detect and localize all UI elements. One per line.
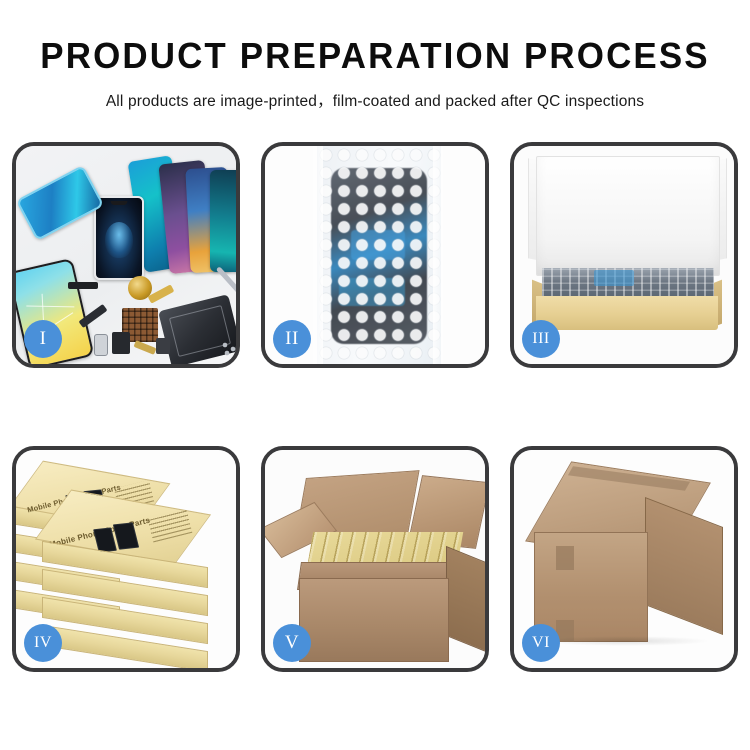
page-title: PRODUCT PREPARATION PROCESS bbox=[11, 36, 739, 76]
spare-part-module-icon bbox=[112, 332, 130, 354]
spare-part-screws-icon bbox=[222, 342, 236, 356]
bubble-highlights-icon bbox=[317, 146, 441, 364]
spare-part-battery-icon bbox=[156, 338, 170, 354]
step-badge-1: I bbox=[24, 320, 62, 358]
process-panel-6-sealed-carton[interactable]: VI bbox=[510, 446, 738, 672]
carton-body-front-icon bbox=[299, 578, 449, 662]
step-badge-6: VI bbox=[522, 624, 560, 662]
step-badge-2: II bbox=[273, 320, 311, 358]
wrap-edge-right-icon bbox=[433, 146, 447, 364]
step-badge-5: V bbox=[273, 624, 311, 662]
spare-part-camera-icon bbox=[94, 334, 108, 356]
carton-tape-patch-icon bbox=[556, 546, 574, 570]
process-panel-4-stacked-boxes[interactable]: Mobile Phone Spare Parts Mobile Phone Sp… bbox=[12, 446, 240, 672]
crack-line-icon bbox=[26, 306, 74, 308]
carton-shadow-icon bbox=[540, 636, 710, 646]
tray-front-panel-icon bbox=[536, 296, 718, 330]
wallpaper-glow-icon bbox=[105, 222, 133, 258]
page-header: PRODUCT PREPARATION PROCESS All products… bbox=[0, 0, 750, 111]
step-badge-3: III bbox=[522, 320, 560, 358]
wrapped-items-row-icon bbox=[542, 268, 714, 298]
process-panel-grid: I II III bbox=[12, 142, 738, 672]
spare-part-bar-icon bbox=[68, 282, 98, 289]
process-panel-1-phone-parts[interactable]: I bbox=[12, 142, 240, 368]
carton-body-side-icon bbox=[446, 546, 485, 652]
process-panel-3-open-tray-box[interactable]: III bbox=[510, 142, 738, 368]
process-panel-5-open-carton[interactable]: V bbox=[261, 446, 489, 672]
carton-front-face-icon bbox=[534, 532, 648, 642]
page-subtitle: All products are image-printed，film-coat… bbox=[0, 89, 750, 111]
box-lid-back-icon bbox=[536, 156, 720, 276]
step-badge-4: IV bbox=[24, 624, 62, 662]
wrap-edge-left-icon bbox=[309, 146, 323, 364]
phone-screen-cyan-icon bbox=[210, 170, 236, 272]
process-panel-2-bubble-wrap[interactable]: II bbox=[261, 142, 489, 368]
phone-front-display-icon bbox=[94, 196, 144, 280]
